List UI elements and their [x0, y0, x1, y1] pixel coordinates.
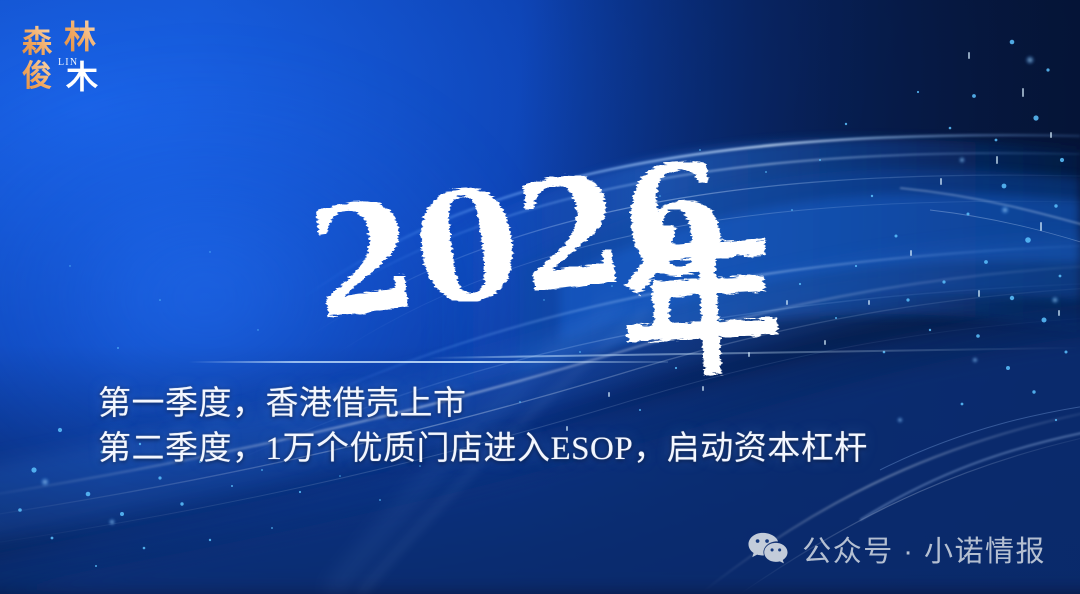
logo-char-sen: 森	[22, 25, 53, 60]
body-line-q2: 第二季度，1万个优质门店进入ESOP，启动资本杠杆	[98, 427, 998, 472]
headline-nian-char: 年	[616, 206, 786, 402]
wechat-icon	[747, 531, 789, 567]
watermark-text: 公众号 · 小诺情报	[802, 528, 1046, 570]
brand-logo[interactable]: 森 俊 林 木 LIN	[14, 12, 118, 96]
body-text-block: 第一季度，香港借壳上市 第二季度，1万个优质门店进入ESOP，启动资本杠杆	[98, 382, 998, 472]
body-line-q1: 第一季度，香港借壳上市	[98, 382, 998, 427]
headline-2026: 2026 年	[318, 188, 770, 400]
logo-latin-text: LIN	[58, 57, 78, 68]
wechat-watermark[interactable]: 公众号 · 小诺情报	[747, 528, 1046, 570]
poster-canvas: 森 俊 林 木 LIN 2026 年	[0, 0, 1080, 594]
logo-char-jun: 俊	[22, 59, 52, 94]
logo-char-lin: 林	[64, 18, 96, 56]
